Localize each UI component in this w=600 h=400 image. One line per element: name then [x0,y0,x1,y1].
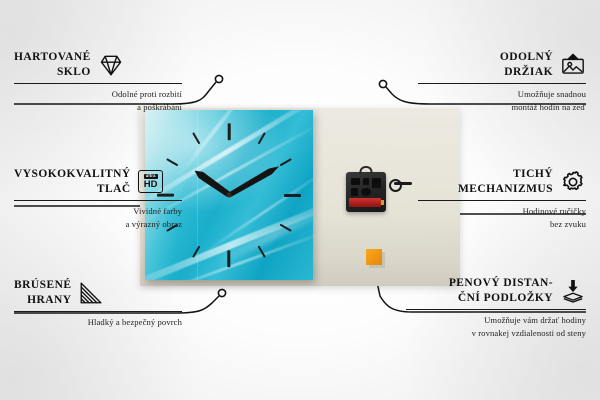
feature-beveled-edges: BRÚSENÉHRANY Hladký a bezpečný povrch [14,278,182,329]
clock-tick [284,194,301,197]
hanging-picture-icon [560,52,586,78]
connector-dot-glass [215,75,222,82]
feature-title: TICHÝMECHANIZMUS [458,167,553,196]
divider [418,83,586,84]
mechanism-hanger-icon [360,166,373,174]
clock-tick [228,123,231,140]
clock-hand-part [394,182,412,185]
clock-mechanism [346,172,386,212]
clock-hour-hand [192,168,231,198]
feature-title: ODOLNÝDRŽIAK [500,50,553,79]
feature-description: Vividné farbya výrazný obraz [14,205,182,229]
divider [406,309,586,310]
diamond-icon [98,52,124,78]
feature-description: Odolné proti rozbitía poškrábání [14,88,182,112]
clock-tick [192,132,200,144]
divider [14,200,182,201]
clock-tick [280,158,292,166]
feature-durable-holder: ODOLNÝDRŽIAK Umožňuje snadnoumontáž hodi… [418,50,586,113]
clock-tick [258,246,266,258]
feature-title: HARTOVANÉSKLO [14,50,91,79]
feature-silent-mechanism: TICHÝMECHANIZMUS Hodinové ručičkybez zvu… [418,167,586,230]
gear-icon [560,169,586,195]
beveled-edge-icon [78,280,104,306]
feature-foam-spacers: PENOVÝ DISTAN-ČNÍ PODLOŽKY Umožňuje vám … [406,276,586,339]
feature-description: Umožňuje snadnoumontáž hodin na zeď [418,88,586,112]
clock-hub [227,193,232,198]
feature-title: PENOVÝ DISTAN-ČNÍ PODLOŽKY [449,276,553,305]
clock-tick [192,246,200,258]
divider [14,311,182,312]
connector-dot-edges [218,289,225,296]
divider [14,83,182,84]
foam-spacer-pad [366,249,382,265]
clock-tick [280,224,292,232]
divider [418,200,586,201]
clock-tick [166,158,178,166]
feature-title: BRÚSENÉHRANY [14,278,71,307]
press-down-layers-icon [560,278,586,304]
feature-title: VYSOKOKVALITNÝTLAČ [14,167,131,196]
feature-description: Hladký a bezpečný povrch [14,316,182,328]
clock-tick [258,132,266,144]
mechanism-battery [349,198,381,207]
hd-label: HD [144,180,158,190]
clock-minute-hand [227,163,280,198]
feature-description: Umožňuje vám držať hodinyv rovnakej vzdi… [406,314,586,338]
ultra-hd-icon: ultra HD [138,169,164,195]
connector-dot-holder [379,80,386,87]
feature-description: Hodinové ručičkybez zvuku [418,205,586,229]
infographic-canvas: HARTOVANÉSKLO Odolné proti rozbitía pošk… [0,0,600,400]
feature-high-quality-print: ultra HD VYSOKOKVALITNÝTLAČ Vividné farb… [14,167,182,230]
clock-tick [228,250,231,267]
feature-tempered-glass: HARTOVANÉSKLO Odolné proti rozbitía pošk… [14,50,182,113]
